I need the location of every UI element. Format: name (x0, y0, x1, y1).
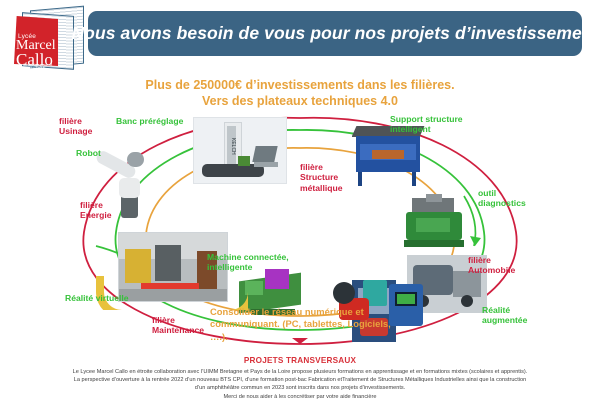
photo-machine-verte (400, 192, 470, 254)
label-outil-diagnostics: outil diagnostics (478, 188, 526, 209)
photo-fibre-jaune-droite (196, 276, 248, 310)
label-robot: Robot (76, 148, 101, 158)
label-filiere-automobile: filière Automobile (468, 255, 515, 276)
photo-banc-preraglage: KELCH (193, 117, 287, 184)
label-filiere-energie: filière Energie (80, 200, 112, 221)
label-support-structure: Support structure intelligent (390, 114, 463, 135)
footer-line-4: Merci de nous aider à les concrétiser pa… (6, 393, 594, 401)
label-banc-preraglage: Banc préréglage (116, 116, 183, 126)
logo-line-redon: REDON (17, 66, 59, 70)
header-banner: Nous avons besoin de vous pour nos proje… (88, 11, 582, 56)
center-note-text: Consolider le réseau numérique et commun… (210, 306, 400, 343)
label-filiere-usinage: filière Usinage (59, 116, 92, 137)
footer-line-2: La perspective d’ouverture à la rentrée … (6, 376, 594, 384)
footer-line-3: d’un amphithéâtre commun en 2023 sont in… (6, 384, 594, 392)
diagram-canvas: KELCH (0, 100, 600, 350)
label-filiere-maintenance: filière Maintenance (152, 315, 204, 336)
footer-line-1: Le Lycee Marcel Callo en étroite collabo… (6, 368, 594, 376)
label-machine-connectee: Machine connectée, intelligente (207, 252, 289, 273)
subtitle-line-1: Plus de 250000€ d’investissements dans l… (0, 78, 600, 94)
footer-text: Le Lycee Marcel Callo en étroite collabo… (6, 368, 594, 401)
page-title: Nous avons besoin de vous pour nos proje… (71, 23, 598, 44)
label-realite-virtuelle: Réalité virtuelle (65, 293, 129, 303)
label-filiere-structure: filière Structure métallique (300, 162, 343, 193)
label-realite-augmentee: Réalité augmentée (482, 305, 527, 326)
footer-heading: PROJETS TRANSVERSAUX (0, 356, 600, 365)
